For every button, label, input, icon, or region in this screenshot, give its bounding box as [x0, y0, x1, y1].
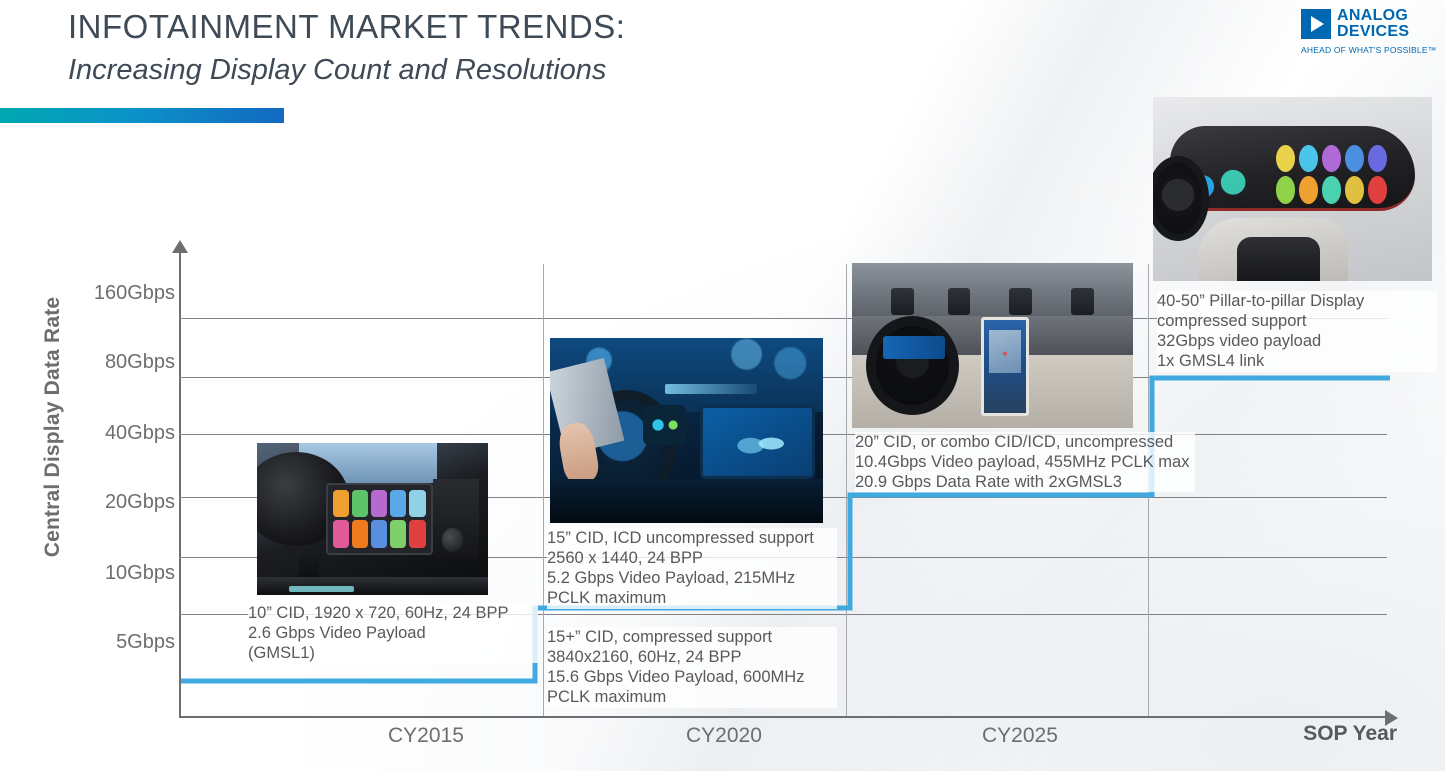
gridline-cy2015	[543, 264, 544, 716]
x-axis-line	[179, 716, 1387, 718]
y-tick-10: 10Gbps	[55, 562, 175, 585]
annotation-cid-20: 20” CID, or combo CID/ICD, uncompressed …	[855, 432, 1195, 492]
y-tick-160: 160Gbps	[55, 282, 175, 305]
annotation-cid-15: 15” CID, ICD uncompressed support 2560 x…	[547, 528, 837, 609]
market-trend-chart: Central Display Data Rate 160Gbps 80Gbps…	[0, 0, 1445, 771]
x-tick-cy2015: CY2015	[388, 724, 464, 748]
gridline-cy2020	[846, 264, 847, 716]
annotation-cid-15plus: 15+” CID, compressed support 3840x2160, …	[547, 627, 837, 708]
y-tick-40: 40Gbps	[55, 422, 175, 445]
y-tick-5: 5Gbps	[55, 631, 175, 654]
x-tick-cy2025: CY2025	[982, 724, 1058, 748]
photo-20in-cid	[852, 263, 1133, 428]
annotation-pillar-to-pillar: 40-50” Pillar-to-pillar Display compress…	[1157, 291, 1437, 372]
annotation-cid-10: 10” CID, 1920 x 720, 60Hz, 24 BPP 2.6 Gb…	[248, 603, 538, 663]
x-axis-title: SOP Year	[1303, 722, 1397, 746]
photo-10in-cid	[257, 443, 488, 595]
photo-pillar-display	[1153, 97, 1432, 281]
y-axis-arrow-icon	[172, 240, 188, 253]
y-tick-80: 80Gbps	[55, 351, 175, 374]
y-axis-line	[179, 250, 181, 718]
photo-15in-autonomous	[550, 338, 823, 523]
y-tick-20: 20Gbps	[55, 491, 175, 514]
x-tick-cy2020: CY2020	[686, 724, 762, 748]
